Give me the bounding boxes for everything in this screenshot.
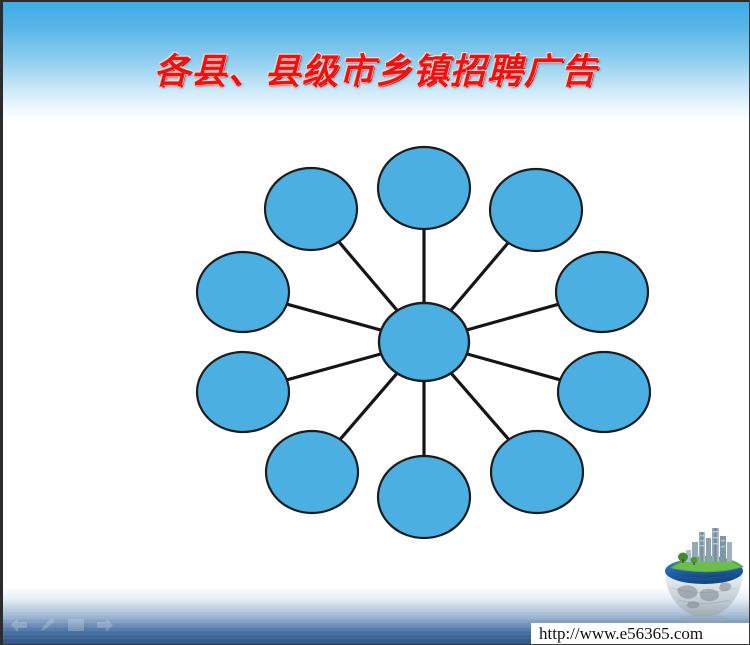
watermark-url-text: http://www.e56365.com [531, 624, 703, 644]
diagram-node [378, 147, 470, 229]
diagram-node [197, 252, 289, 332]
diagram-node [491, 431, 583, 513]
diagram-hub-node [379, 303, 469, 381]
diagram-node [490, 169, 582, 251]
diagram-node [265, 168, 357, 250]
radial-diagram [3, 2, 750, 645]
diagram-node [558, 352, 650, 432]
ghost-toolbar [9, 612, 129, 638]
earth-city-globe-logo [658, 526, 750, 624]
back-arrow-icon [9, 617, 29, 633]
globe-city-buildings [686, 528, 732, 562]
forward-arrow-icon [95, 617, 115, 633]
pencil-icon [39, 617, 57, 633]
diagram-node [266, 431, 358, 513]
rectangle-icon [67, 618, 85, 632]
diagram-node [378, 456, 470, 538]
diagram-node [556, 252, 648, 332]
slide-canvas: 各县、县级市乡镇招聘广告 [0, 0, 750, 645]
watermark-url-bar: http://www.e56365.com [531, 623, 749, 644]
diagram-node [197, 352, 289, 432]
